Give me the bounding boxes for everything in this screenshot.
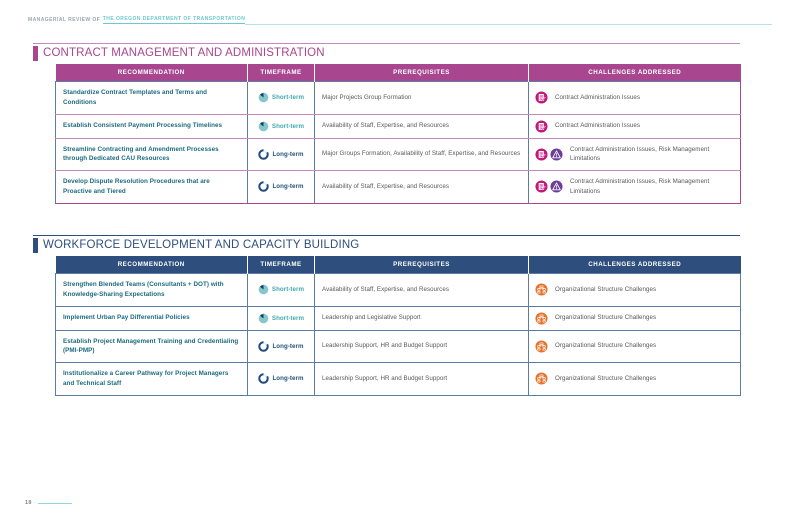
column-header-recommendation: RECOMMENDATION xyxy=(56,64,248,82)
table-row: Implement Urban Pay Differential Policie… xyxy=(56,306,741,330)
short-term-circle-icon xyxy=(258,92,269,103)
risk-warning-triangle-icon xyxy=(550,180,563,193)
challenges-content: Organizational Structure Challenges xyxy=(535,340,736,353)
table-header-row: RECOMMENDATIONTIMEFRAMEPREREQUISITESCHAL… xyxy=(56,64,741,82)
column-header-timeframe: TIMEFRAME xyxy=(248,64,315,82)
prerequisites-cell: Leadership and Legislative Support xyxy=(315,306,529,330)
recommendations-table-workforce-development: RECOMMENDATIONTIMEFRAMEPREREQUISITESCHAL… xyxy=(55,256,741,396)
recommendation-cell: Streamline Contracting and Amendment Pro… xyxy=(56,138,248,171)
column-header-challenges-addressed: CHALLENGES ADDRESSED xyxy=(529,64,741,82)
short-term-circle-icon xyxy=(258,284,269,295)
challenges-label: Contract Administration Issues xyxy=(555,93,640,103)
prerequisites-cell: Major Groups Formation, Availability of … xyxy=(315,138,529,171)
timeframe-label: Short-term xyxy=(272,123,304,130)
timeframe-cell: Short-term xyxy=(248,114,315,138)
timeframe-cell: Long-term xyxy=(248,138,315,171)
recommendation-cell: Institutionalize a Career Pathway for Pr… xyxy=(56,363,248,396)
recommendation-cell: Establish Consistent Payment Processing … xyxy=(56,114,248,138)
table-row: Strengthen Blended Teams (Consultants + … xyxy=(56,274,741,307)
challenge-icon-group xyxy=(535,372,548,385)
org-structure-icon xyxy=(535,340,548,353)
recommendation-cell: Standardize Contract Templates and Terms… xyxy=(56,82,248,115)
org-structure-icon xyxy=(535,283,548,296)
running-header-prefix: MANAGERIAL REVIEW OF xyxy=(28,17,100,23)
challenge-icon-group xyxy=(535,180,563,193)
timeframe-badge: Long-term xyxy=(251,149,311,160)
challenges-content: Contract Administration Issues xyxy=(535,120,736,133)
running-header-link[interactable]: THE OREGON DEPARTMENT OF TRANSPORTATION xyxy=(103,16,246,24)
section-title: CONTRACT MANAGEMENT AND ADMINISTRATION xyxy=(43,46,325,61)
challenges-cell: Contract Administration Issues xyxy=(529,114,741,138)
long-term-circle-icon xyxy=(258,149,269,160)
challenges-cell: Contract Administration Issues xyxy=(529,82,741,115)
timeframe-label: Long-term xyxy=(272,343,303,350)
section-title-row: WORKFORCE DEVELOPMENT AND CAPACITY BUILD… xyxy=(33,238,740,253)
short-term-circle-icon xyxy=(258,313,269,324)
risk-warning-triangle-icon xyxy=(550,148,563,161)
column-header-prerequisites: PREREQUISITES xyxy=(315,256,529,274)
challenges-label: Organizational Structure Challenges xyxy=(555,313,656,323)
challenges-cell: Organizational Structure Challenges xyxy=(529,274,741,307)
contract-document-icon xyxy=(535,120,548,133)
challenge-icon-group xyxy=(535,91,548,104)
timeframe-cell: Short-term xyxy=(248,306,315,330)
challenge-icon-group xyxy=(535,283,548,296)
page-footer: 18 xyxy=(25,500,115,506)
challenges-cell: Contract Administration Issues, Risk Man… xyxy=(529,171,741,204)
timeframe-label: Long-term xyxy=(272,151,303,158)
table-row: Establish Consistent Payment Processing … xyxy=(56,114,741,138)
timeframe-cell: Short-term xyxy=(248,82,315,115)
prerequisites-cell: Availability of Staff, Expertise, and Re… xyxy=(315,171,529,204)
challenges-content: Organizational Structure Challenges xyxy=(535,372,736,385)
org-structure-icon xyxy=(535,372,548,385)
column-header-timeframe: TIMEFRAME xyxy=(248,256,315,274)
long-term-circle-icon xyxy=(258,373,269,384)
challenge-icon-group xyxy=(535,148,563,161)
challenges-label: Contract Administration Issues xyxy=(555,121,640,131)
challenges-cell: Organizational Structure Challenges xyxy=(529,330,741,363)
prerequisites-cell: Availability of Staff, Expertise, and Re… xyxy=(315,114,529,138)
contract-document-icon xyxy=(535,180,548,193)
section-title-row: CONTRACT MANAGEMENT AND ADMINISTRATION xyxy=(33,46,740,61)
timeframe-badge: Short-term xyxy=(251,284,311,295)
timeframe-cell: Long-term xyxy=(248,171,315,204)
challenge-icon-group xyxy=(535,340,548,353)
timeframe-cell: Long-term xyxy=(248,363,315,396)
timeframe-cell: Short-term xyxy=(248,274,315,307)
timeframe-label: Short-term xyxy=(272,286,304,293)
challenges-content: Organizational Structure Challenges xyxy=(535,312,736,325)
prerequisites-cell: Leadership Support, HR and Budget Suppor… xyxy=(315,363,529,396)
recommendation-cell: Implement Urban Pay Differential Policie… xyxy=(56,306,248,330)
challenges-cell: Organizational Structure Challenges xyxy=(529,363,741,396)
challenges-label: Contract Administration Issues, Risk Man… xyxy=(570,145,736,164)
challenges-content: Contract Administration Issues, Risk Man… xyxy=(535,177,736,196)
timeframe-badge: Short-term xyxy=(251,121,311,132)
column-header-prerequisites: PREREQUISITES xyxy=(315,64,529,82)
challenges-label: Organizational Structure Challenges xyxy=(555,285,656,295)
challenges-cell: Contract Administration Issues, Risk Man… xyxy=(529,138,741,171)
page-number: 18 xyxy=(25,500,32,506)
running-header: MANAGERIAL REVIEW OF THE OREGON DEPARTME… xyxy=(28,14,772,26)
challenges-content: Organizational Structure Challenges xyxy=(535,283,736,296)
challenges-cell: Organizational Structure Challenges xyxy=(529,306,741,330)
table-row: Standardize Contract Templates and Terms… xyxy=(56,82,741,115)
org-structure-icon xyxy=(535,312,548,325)
section-top-rule xyxy=(33,235,740,236)
challenge-icon-group xyxy=(535,312,548,325)
prerequisites-cell: Availability of Staff, Expertise, and Re… xyxy=(315,274,529,307)
timeframe-label: Long-term xyxy=(272,183,303,190)
timeframe-label: Long-term xyxy=(272,375,303,382)
recommendation-cell: Establish Project Management Training an… xyxy=(56,330,248,363)
challenge-icon-group xyxy=(535,120,548,133)
timeframe-badge: Long-term xyxy=(251,181,311,192)
table-row: Streamline Contracting and Amendment Pro… xyxy=(56,138,741,171)
table-row: Develop Dispute Resolution Procedures th… xyxy=(56,171,741,204)
timeframe-badge: Short-term xyxy=(251,313,311,324)
short-term-circle-icon xyxy=(258,121,269,132)
prerequisites-cell: Major Projects Group Formation xyxy=(315,82,529,115)
table-row: Establish Project Management Training an… xyxy=(56,330,741,363)
section-contract-management: CONTRACT MANAGEMENT AND ADMINISTRATION R… xyxy=(33,43,740,204)
section-top-rule xyxy=(33,43,740,44)
long-term-circle-icon xyxy=(258,181,269,192)
contract-document-icon xyxy=(535,91,548,104)
recommendation-cell: Develop Dispute Resolution Procedures th… xyxy=(56,171,248,204)
section-workforce-development: WORKFORCE DEVELOPMENT AND CAPACITY BUILD… xyxy=(33,235,740,396)
table-header-row: RECOMMENDATIONTIMEFRAMEPREREQUISITESCHAL… xyxy=(56,256,741,274)
timeframe-badge: Short-term xyxy=(251,92,311,103)
recommendations-table-contract-management: RECOMMENDATIONTIMEFRAMEPREREQUISITESCHAL… xyxy=(55,64,741,204)
timeframe-cell: Long-term xyxy=(248,330,315,363)
challenges-label: Organizational Structure Challenges xyxy=(555,341,656,351)
running-header-rule xyxy=(245,24,772,25)
timeframe-badge: Long-term xyxy=(251,341,311,352)
challenges-label: Contract Administration Issues, Risk Man… xyxy=(570,177,736,196)
column-header-challenges-addressed: CHALLENGES ADDRESSED xyxy=(529,256,741,274)
challenges-content: Contract Administration Issues xyxy=(535,91,736,104)
footer-rule xyxy=(38,503,72,504)
timeframe-label: Short-term xyxy=(272,94,304,101)
section-accent-bar xyxy=(33,46,38,61)
table-row: Institutionalize a Career Pathway for Pr… xyxy=(56,363,741,396)
section-accent-bar xyxy=(33,238,38,253)
timeframe-badge: Long-term xyxy=(251,373,311,384)
section-title: WORKFORCE DEVELOPMENT AND CAPACITY BUILD… xyxy=(43,238,359,253)
challenges-label: Organizational Structure Challenges xyxy=(555,374,656,384)
contract-document-icon xyxy=(535,148,548,161)
column-header-recommendation: RECOMMENDATION xyxy=(56,256,248,274)
timeframe-label: Short-term xyxy=(272,315,304,322)
challenges-content: Contract Administration Issues, Risk Man… xyxy=(535,145,736,164)
long-term-circle-icon xyxy=(258,341,269,352)
recommendation-cell: Strengthen Blended Teams (Consultants + … xyxy=(56,274,248,307)
prerequisites-cell: Leadership Support, HR and Budget Suppor… xyxy=(315,330,529,363)
